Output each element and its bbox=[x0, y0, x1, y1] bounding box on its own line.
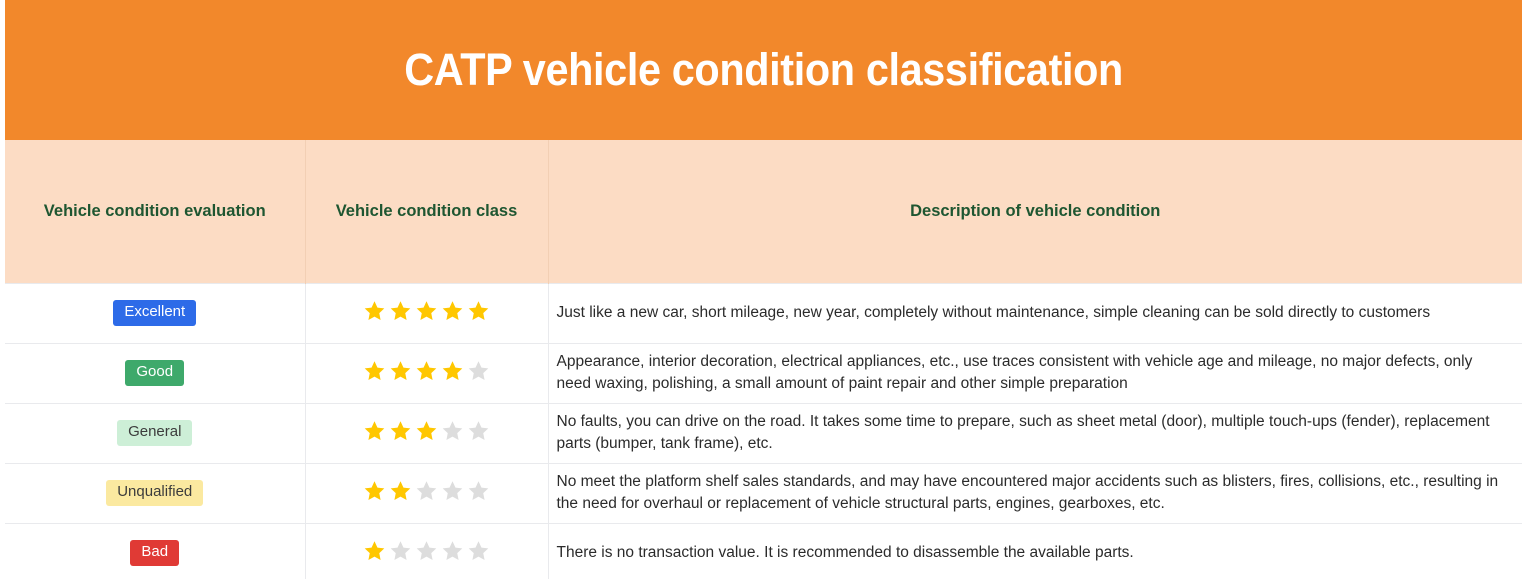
cell-condition-class bbox=[305, 523, 548, 579]
status-badge: General bbox=[117, 420, 192, 446]
star-rating bbox=[362, 479, 491, 503]
star-empty-icon bbox=[440, 539, 465, 563]
star-filled-icon bbox=[414, 359, 439, 383]
star-filled-icon bbox=[388, 479, 413, 503]
star-filled-icon bbox=[362, 359, 387, 383]
star-filled-icon bbox=[362, 299, 387, 323]
cell-condition-class bbox=[305, 403, 548, 463]
star-filled-icon bbox=[362, 419, 387, 443]
star-rating bbox=[362, 359, 491, 383]
star-filled-icon bbox=[362, 479, 387, 503]
star-filled-icon bbox=[414, 299, 439, 323]
cell-description: Just like a new car, short mileage, new … bbox=[548, 283, 1522, 343]
status-badge: Unqualified bbox=[106, 480, 203, 506]
page-title: CATP vehicle condition classification bbox=[404, 44, 1123, 96]
star-filled-icon bbox=[362, 539, 387, 563]
star-empty-icon bbox=[466, 479, 491, 503]
column-header-description: Description of vehicle condition bbox=[548, 140, 1522, 283]
vehicle-condition-classification-page: CATP vehicle condition classification Ve… bbox=[0, 0, 1527, 579]
star-empty-icon bbox=[466, 539, 491, 563]
star-empty-icon bbox=[466, 419, 491, 443]
table-row: GeneralNo faults, you can drive on the r… bbox=[5, 403, 1522, 463]
star-empty-icon bbox=[388, 539, 413, 563]
cell-evaluation: General bbox=[5, 403, 305, 463]
status-badge: Bad bbox=[130, 540, 179, 566]
star-empty-icon bbox=[414, 539, 439, 563]
table-body: ExcellentJust like a new car, short mile… bbox=[5, 283, 1522, 579]
star-filled-icon bbox=[440, 359, 465, 383]
cell-condition-class bbox=[305, 283, 548, 343]
star-filled-icon bbox=[440, 299, 465, 323]
cell-evaluation: Bad bbox=[5, 523, 305, 579]
cell-condition-class bbox=[305, 463, 548, 523]
star-rating bbox=[362, 299, 491, 323]
vehicle-condition-table: Vehicle condition evaluation Vehicle con… bbox=[5, 140, 1522, 579]
star-empty-icon bbox=[466, 359, 491, 383]
star-empty-icon bbox=[440, 419, 465, 443]
cell-evaluation: Unqualified bbox=[5, 463, 305, 523]
table-row: UnqualifiedNo meet the platform shelf sa… bbox=[5, 463, 1522, 523]
cell-description: No meet the platform shelf sales standar… bbox=[548, 463, 1522, 523]
column-header-class: Vehicle condition class bbox=[305, 140, 548, 283]
status-badge: Good bbox=[125, 360, 184, 386]
cell-evaluation: Good bbox=[5, 343, 305, 403]
star-filled-icon bbox=[388, 419, 413, 443]
title-banner: CATP vehicle condition classification bbox=[5, 0, 1522, 140]
cell-description: No faults, you can drive on the road. It… bbox=[548, 403, 1522, 463]
star-empty-icon bbox=[414, 479, 439, 503]
table-row: BadThere is no transaction value. It is … bbox=[5, 523, 1522, 579]
cell-evaluation: Excellent bbox=[5, 283, 305, 343]
star-rating bbox=[362, 419, 491, 443]
column-header-evaluation: Vehicle condition evaluation bbox=[5, 140, 305, 283]
star-rating bbox=[362, 539, 491, 563]
cell-description: Appearance, interior decoration, electri… bbox=[548, 343, 1522, 403]
cell-condition-class bbox=[305, 343, 548, 403]
table-row: GoodAppearance, interior decoration, ele… bbox=[5, 343, 1522, 403]
star-filled-icon bbox=[388, 299, 413, 323]
status-badge: Excellent bbox=[113, 300, 196, 326]
star-empty-icon bbox=[440, 479, 465, 503]
star-filled-icon bbox=[388, 359, 413, 383]
star-filled-icon bbox=[466, 299, 491, 323]
table-row: ExcellentJust like a new car, short mile… bbox=[5, 283, 1522, 343]
cell-description: There is no transaction value. It is rec… bbox=[548, 523, 1522, 579]
star-filled-icon bbox=[414, 419, 439, 443]
table-header-row: Vehicle condition evaluation Vehicle con… bbox=[5, 140, 1522, 283]
